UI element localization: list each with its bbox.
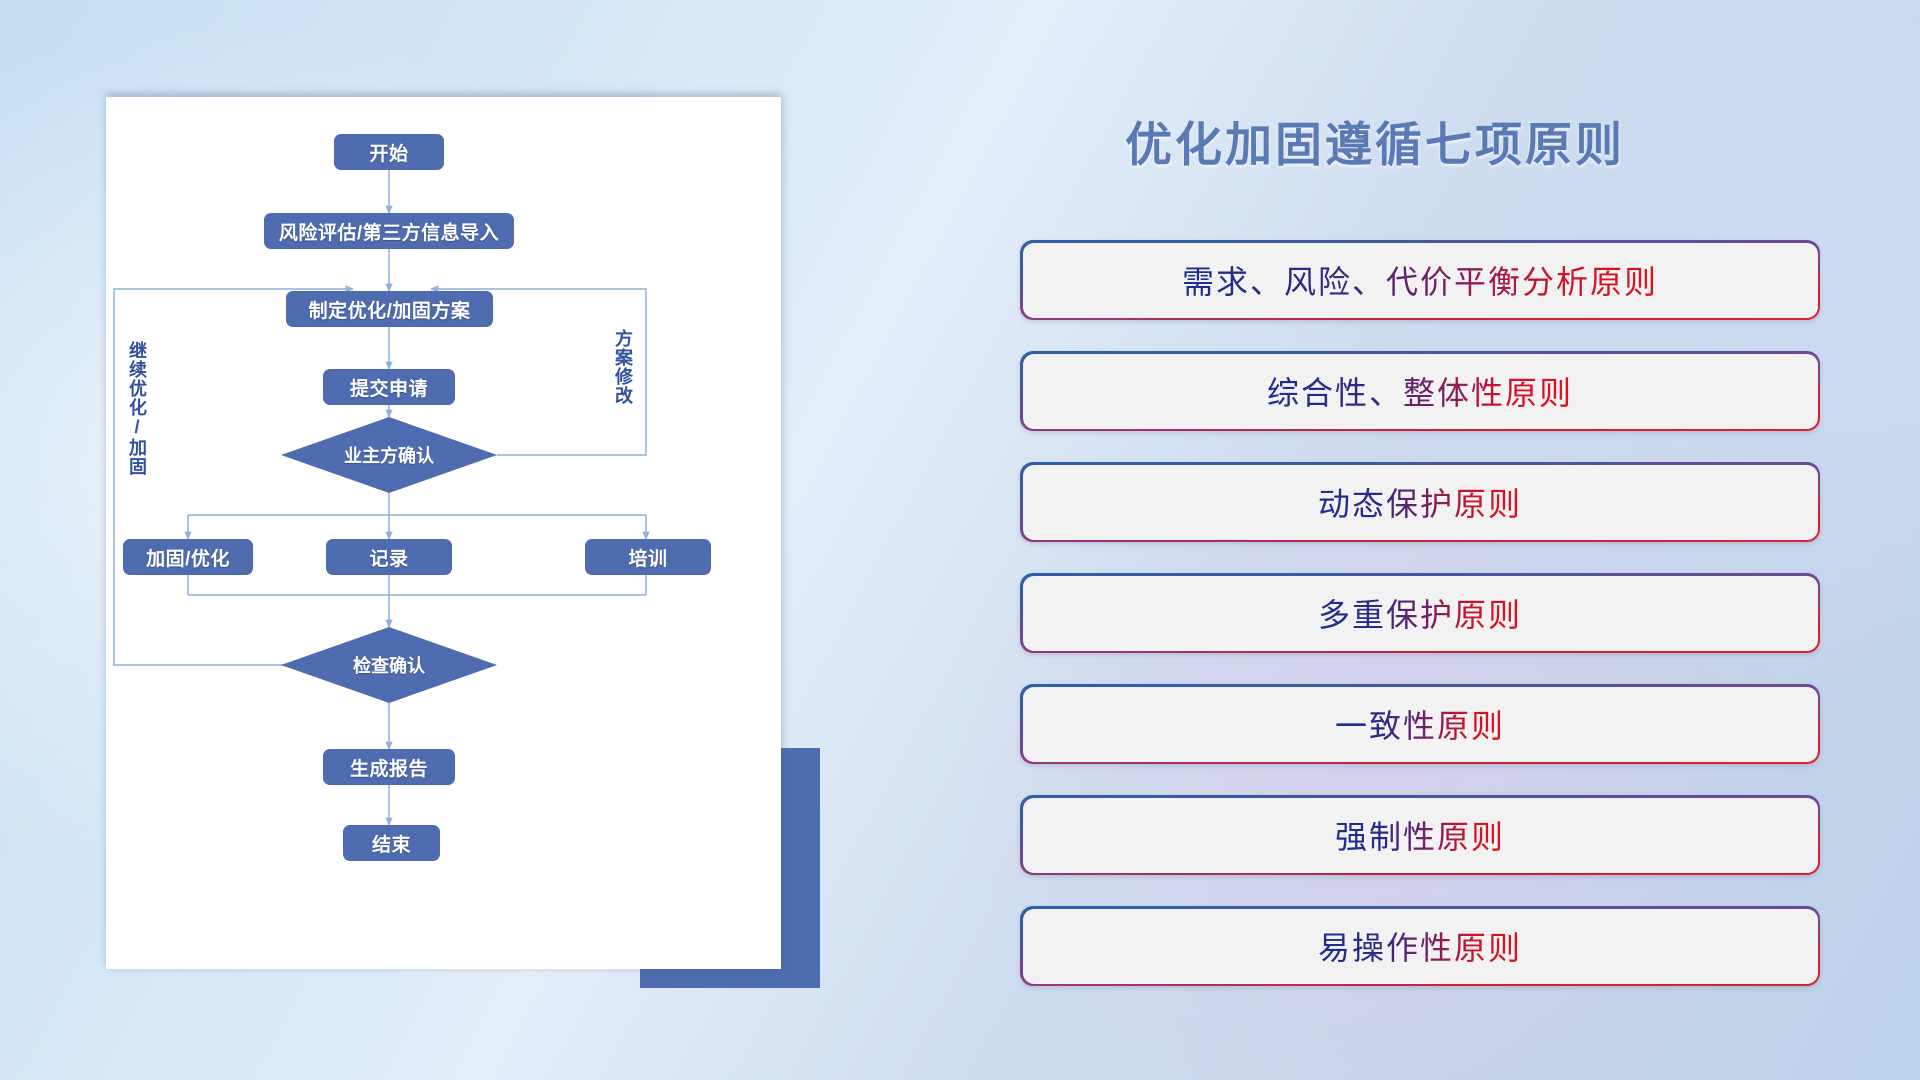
flow-node-reinforce[interactable]: 加固/优化 (123, 539, 253, 575)
flow-node-label: 结束 (372, 830, 411, 857)
flow-node-label: 检查确认 (353, 652, 425, 678)
principle-label: 强制性原则 (1335, 812, 1505, 858)
flow-node-label: 生成报告 (350, 754, 428, 781)
flow-node-risk-assessment[interactable]: 风险评估/第三方信息导入 (264, 213, 514, 249)
flow-node-end[interactable]: 结束 (343, 825, 440, 861)
flow-node-owner-confirm[interactable]: 业主方确认 (281, 417, 497, 493)
principle-inner: 需求、风险、代价平衡分析原则 (1023, 243, 1818, 318)
flowchart-stage: 开始 风险评估/第三方信息导入 制定优化/加固方案 提交申请 业主方确认 加固/… (0, 0, 830, 1080)
principle-label: 需求、风险、代价平衡分析原则 (1182, 257, 1658, 303)
principle-label: 动态保护原则 (1318, 479, 1522, 525)
principle-inner: 一致性原则 (1023, 687, 1818, 762)
principle-label: 易操作性原则 (1318, 923, 1522, 969)
flow-edge-label-right-loop: 方案修改 (614, 329, 632, 405)
flowchart-card: 开始 风险评估/第三方信息导入 制定优化/加固方案 提交申请 业主方确认 加固/… (106, 97, 781, 969)
flow-node-training[interactable]: 培训 (585, 539, 711, 575)
principle-item[interactable]: 多重保护原则 (1020, 573, 1820, 653)
flow-node-label: 加固/优化 (146, 544, 230, 571)
flow-node-start[interactable]: 开始 (334, 134, 444, 170)
flow-node-label: 培训 (628, 544, 667, 571)
flow-edge-label-left-loop: 继续优化/加固 (128, 341, 146, 476)
principle-inner: 综合性、整体性原则 (1023, 354, 1818, 429)
principle-item[interactable]: 综合性、整体性原则 (1020, 351, 1820, 431)
principles-list: 需求、风险、代价平衡分析原则 综合性、整体性原则 动态保护原则 多重保护原则 一… (1020, 240, 1820, 1017)
principle-inner: 动态保护原则 (1023, 465, 1818, 540)
principle-item[interactable]: 强制性原则 (1020, 795, 1820, 875)
principle-inner: 多重保护原则 (1023, 576, 1818, 651)
flow-node-label: 记录 (369, 544, 408, 571)
principle-label: 综合性、整体性原则 (1267, 368, 1573, 414)
flow-node-generate-report[interactable]: 生成报告 (323, 749, 455, 785)
principle-inner: 强制性原则 (1023, 798, 1818, 873)
principles-title: 优化加固遵循七项原则 (830, 106, 1920, 175)
flow-node-plan[interactable]: 制定优化/加固方案 (286, 291, 493, 327)
flow-node-label: 业主方确认 (344, 442, 434, 468)
principle-inner: 易操作性原则 (1023, 909, 1818, 984)
principle-item[interactable]: 需求、风险、代价平衡分析原则 (1020, 240, 1820, 320)
flow-node-label: 制定优化/加固方案 (309, 296, 471, 323)
flow-node-label: 开始 (369, 139, 408, 166)
principle-label: 多重保护原则 (1318, 590, 1522, 636)
principle-item[interactable]: 动态保护原则 (1020, 462, 1820, 542)
principles-panel: 优化加固遵循七项原则 需求、风险、代价平衡分析原则 综合性、整体性原则 动态保护… (830, 0, 1920, 1080)
principle-item[interactable]: 易操作性原则 (1020, 906, 1820, 986)
flow-node-record[interactable]: 记录 (326, 539, 452, 575)
flow-node-submit-application[interactable]: 提交申请 (323, 369, 455, 405)
principle-item[interactable]: 一致性原则 (1020, 684, 1820, 764)
flow-node-label: 提交申请 (350, 374, 428, 401)
flow-node-check-confirm[interactable]: 检查确认 (281, 627, 497, 703)
flow-node-label: 风险评估/第三方信息导入 (279, 218, 499, 245)
principle-label: 一致性原则 (1335, 701, 1505, 747)
